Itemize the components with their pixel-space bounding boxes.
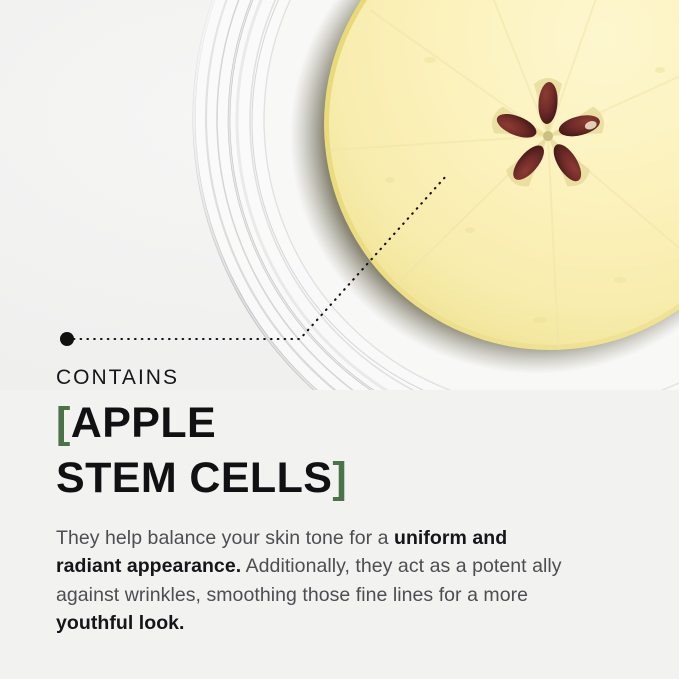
body-part-0: They help balance your skin tone for a: [56, 527, 394, 549]
headline-line-1: [APPLE: [56, 403, 636, 445]
headline-word-apple: APPLE: [71, 399, 216, 447]
text-block: CONTAINS [APPLE STEM CELLS] They help ba…: [56, 366, 636, 638]
callout-leader: [0, 140, 500, 370]
headline-line-2: STEM CELLS]: [56, 458, 636, 500]
open-bracket: [: [56, 399, 71, 447]
eyebrow-label: CONTAINS: [56, 366, 636, 389]
body-copy: They help balance your skin tone for a u…: [56, 524, 562, 639]
page-title: [APPLE STEM CELLS]: [56, 403, 636, 499]
leader-dot: [60, 332, 74, 346]
leader-line: [67, 175, 447, 339]
body-part-3: youthful look.: [56, 612, 185, 634]
close-bracket: ]: [332, 454, 347, 502]
headline-word-stem-cells: STEM CELLS: [56, 454, 332, 502]
product-benefit-card: CONTAINS [APPLE STEM CELLS] They help ba…: [0, 0, 679, 679]
